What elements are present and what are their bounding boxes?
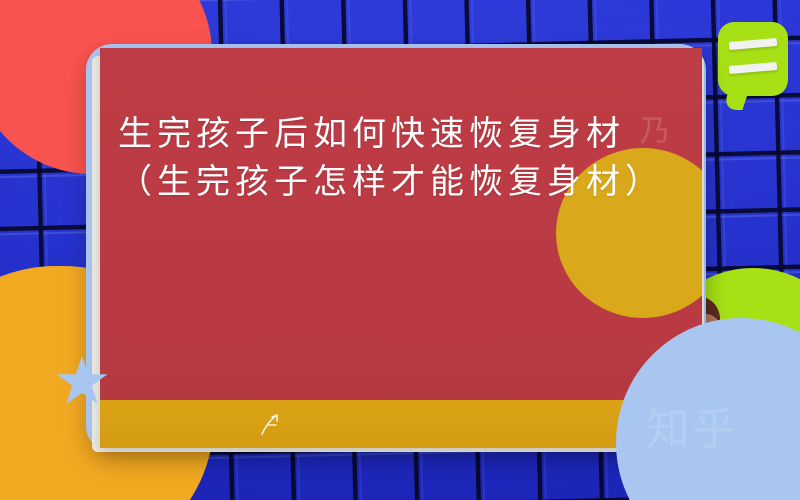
band-mark-icon	[256, 410, 286, 438]
speech-bubble-line	[729, 38, 778, 50]
title-card: 生完孩子后如何快速恢复身材（生完孩子怎样才能恢复身材） 乃	[100, 48, 702, 448]
green-speech-bubble-icon	[718, 22, 788, 96]
card-bottom-band	[100, 400, 702, 448]
page-title: 生完孩子后如何快速恢复身材（生完孩子怎样才能恢复身材）	[118, 110, 684, 207]
poster-stage: 生完孩子后如何快速恢复身材（生完孩子怎样才能恢复身材） 乃 知乎	[0, 0, 800, 500]
speech-bubble-line	[729, 62, 778, 74]
